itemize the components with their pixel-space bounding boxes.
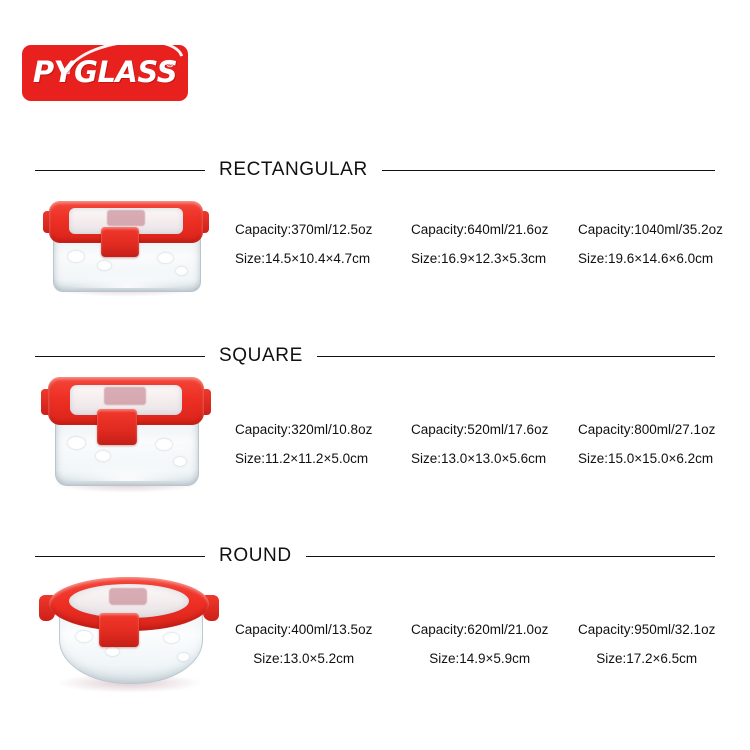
divider-right: [317, 356, 715, 357]
section-title: ROUND: [205, 545, 306, 567]
spec-variant: Capacity:520ml/17.6oz Size:13.0×13.0×5.6…: [411, 415, 548, 473]
spec-row-square: Capacity:320ml/10.8oz Size:11.2×11.2×5.0…: [0, 371, 750, 381]
lid-tint-panel: [107, 210, 145, 226]
divider-left: [35, 356, 205, 357]
size-label: Size:13.0×13.0×5.6cm: [411, 444, 548, 473]
capacity-label: Capacity:520ml/17.6oz: [411, 415, 548, 444]
divider-right: [306, 556, 715, 557]
spec-variant: Capacity:1040ml/35.2oz Size:19.6×14.6×6.…: [578, 215, 723, 273]
glass-highlight: [76, 631, 92, 642]
spec-variant: Capacity:800ml/27.1oz Size:15.0×15.0×6.2…: [578, 415, 715, 473]
spec-row-rectangular: Capacity:370ml/12.5oz Size:14.5×10.4×4.7…: [0, 185, 750, 195]
glass-highlight: [68, 251, 84, 262]
glass-highlight: [174, 457, 186, 466]
brand-logo: PYGLASS ®: [22, 45, 188, 101]
capacity-label: Capacity:640ml/21.6oz: [411, 215, 548, 244]
spec-variant: Capacity:640ml/21.6oz Size:16.9×12.3×5.3…: [411, 215, 548, 273]
size-label: Size:11.2×11.2×5.0cm: [235, 444, 372, 473]
product-image-rectangular: [35, 193, 217, 293]
glass-highlight: [156, 439, 172, 450]
divider-left: [35, 170, 205, 171]
spec-variant: Capacity:370ml/12.5oz Size:14.5×10.4×4.7…: [235, 215, 372, 273]
glass-highlight: [178, 653, 189, 661]
glass-highlight: [98, 261, 111, 270]
spec-variant: Capacity:620ml/21.0oz Size:14.9×5.9cm: [411, 615, 548, 673]
section-square: SQUARE Capacity:320ml/10.8oz Size:11.2×1…: [0, 341, 750, 381]
divider-left: [35, 556, 205, 557]
section-round: ROUND Capacity:400ml/13.5oz Size:13.0×5.…: [0, 541, 750, 581]
spec-variant: Capacity:950ml/32.1oz Size:17.2×6.5cm: [578, 615, 715, 673]
glass-highlight: [96, 451, 110, 461]
glass-highlight: [176, 267, 187, 275]
size-label: Size:15.0×15.0×6.2cm: [578, 444, 715, 473]
capacity-label: Capacity:320ml/10.8oz: [235, 415, 372, 444]
product-image-square: [35, 367, 217, 487]
capacity-label: Capacity:950ml/32.1oz: [578, 615, 715, 644]
lid-tint-panel: [109, 588, 147, 605]
front-latch: [97, 409, 137, 445]
spec-variant: Capacity:400ml/13.5oz Size:13.0×5.2cm: [235, 615, 372, 673]
section-title: SQUARE: [205, 345, 317, 367]
capacity-label: Capacity:620ml/21.0oz: [411, 615, 548, 644]
size-label: Size:16.9×12.3×5.3cm: [411, 244, 548, 273]
registered-trademark-icon: ®: [165, 59, 175, 70]
size-label: Size:14.5×10.4×4.7cm: [235, 244, 372, 273]
lid-tint-panel: [104, 387, 146, 405]
glass-highlight: [164, 633, 179, 643]
logo-plate: PYGLASS ®: [22, 45, 188, 101]
size-label: Size:13.0×5.2cm: [235, 644, 372, 673]
size-label: Size:14.9×5.9cm: [411, 644, 548, 673]
front-latch: [101, 227, 139, 257]
section-header-round: ROUND: [35, 541, 715, 571]
size-label: Size:19.6×14.6×6.0cm: [578, 244, 723, 273]
spec-row-round: Capacity:400ml/13.5oz Size:13.0×5.2cm Ca…: [0, 571, 750, 581]
spec-variant: Capacity:320ml/10.8oz Size:11.2×11.2×5.0…: [235, 415, 372, 473]
glass-highlight: [158, 253, 173, 263]
front-latch: [99, 613, 139, 647]
capacity-label: Capacity:400ml/13.5oz: [235, 615, 372, 644]
section-rectangular: RECTANGULAR Capacity:370ml/12.5oz Size:1…: [0, 155, 750, 195]
capacity-label: Capacity:800ml/27.1oz: [578, 415, 715, 444]
glass-highlight: [68, 437, 85, 449]
capacity-label: Capacity:370ml/12.5oz: [235, 215, 372, 244]
product-image-round: [35, 569, 225, 689]
section-header-rectangular: RECTANGULAR: [35, 155, 715, 185]
section-title: RECTANGULAR: [205, 159, 382, 181]
glass-highlight: [106, 647, 119, 656]
divider-right: [382, 170, 715, 171]
capacity-label: Capacity:1040ml/35.2oz: [578, 215, 723, 244]
logo-wordmark: PYGLASS: [22, 58, 188, 87]
size-label: Size:17.2×6.5cm: [578, 644, 715, 673]
